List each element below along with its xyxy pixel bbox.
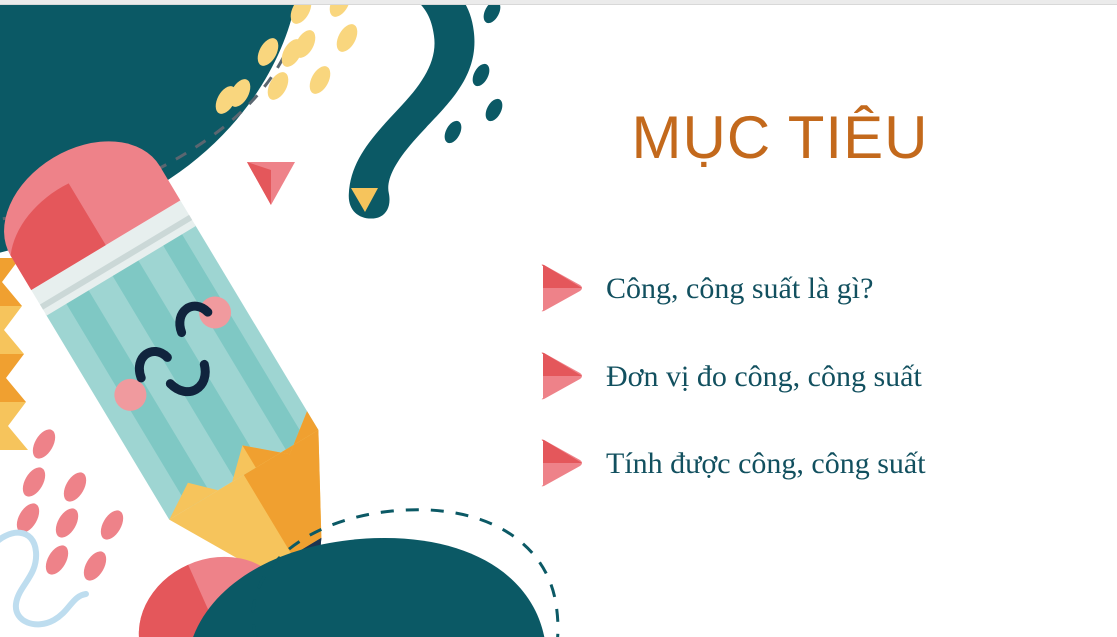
triangle-right-bullet-icon xyxy=(538,350,584,402)
window-top-strip xyxy=(0,0,1117,5)
list-item[interactable]: Tính được công, công suất xyxy=(538,437,926,489)
slide-canvas: MỤC TIÊU Công, công suất là gì? Đơn vị đ… xyxy=(0,0,1117,637)
triangle-right-bullet-icon xyxy=(538,437,584,489)
list-item-label: Đơn vị đo công, công suất xyxy=(606,360,922,393)
triangle-right-bullet-icon xyxy=(538,262,584,314)
page-title: MỤC TIÊU xyxy=(520,106,1040,169)
list-item-label: Tính được công, công suất xyxy=(606,447,926,480)
list-item-label: Công, công suất là gì? xyxy=(606,272,873,305)
list-item[interactable]: Công, công suất là gì? xyxy=(538,262,873,314)
list-item[interactable]: Đơn vị đo công, công suất xyxy=(538,350,922,402)
